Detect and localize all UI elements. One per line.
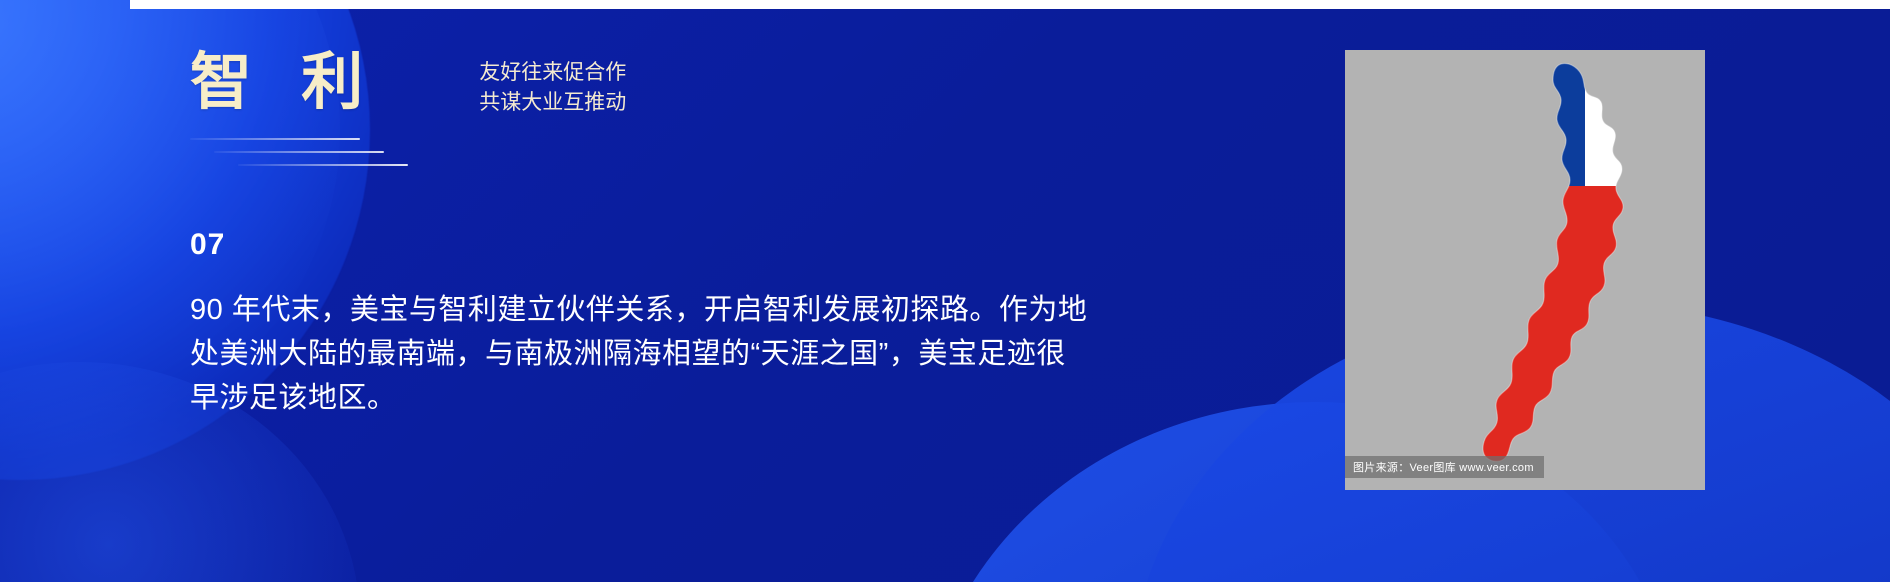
flag-red-band xyxy=(1465,186,1695,468)
section-number: 07 xyxy=(190,228,225,262)
title-row: 智 利 友好往来促合作 共谋大业互推动 xyxy=(190,50,626,119)
image-watermark: 图片来源：Veer图库 www.veer.com xyxy=(1345,456,1544,478)
subtitle-line-1: 友好往来促合作 xyxy=(479,58,626,88)
flag-fill-group xyxy=(1465,58,1695,468)
flag-white-band xyxy=(1585,58,1695,186)
chile-flag-map-icon xyxy=(1465,58,1695,468)
flag-blue-canton xyxy=(1465,58,1585,186)
decorative-underline-lines xyxy=(190,138,530,174)
page-title: 智 利 xyxy=(190,50,379,115)
decorative-line-3 xyxy=(238,164,408,166)
map-wrapper xyxy=(1345,50,1705,490)
subtitle-line-2: 共谋大业互推动 xyxy=(479,88,626,118)
slide-root: 智 利 友好往来促合作 共谋大业互推动 07 90 年代末，美宝与智利建立伙伴关… xyxy=(0,0,1890,582)
body-paragraph: 90 年代末，美宝与智利建立伙伴关系，开启智利发展初探路。作为地处美洲大陆的最南… xyxy=(190,288,1090,420)
decorative-line-1 xyxy=(190,138,360,140)
subtitle-couplet: 友好往来促合作 共谋大业互推动 xyxy=(479,58,626,119)
decorative-line-2 xyxy=(214,151,384,153)
text-content-column: 智 利 友好往来促合作 共谋大业互推动 07 90 年代末，美宝与智利建立伙伴关… xyxy=(0,0,1100,582)
image-card-chile-map: 图片来源：Veer图库 www.veer.com xyxy=(1345,50,1705,490)
flag-star-icon xyxy=(1503,154,1551,199)
